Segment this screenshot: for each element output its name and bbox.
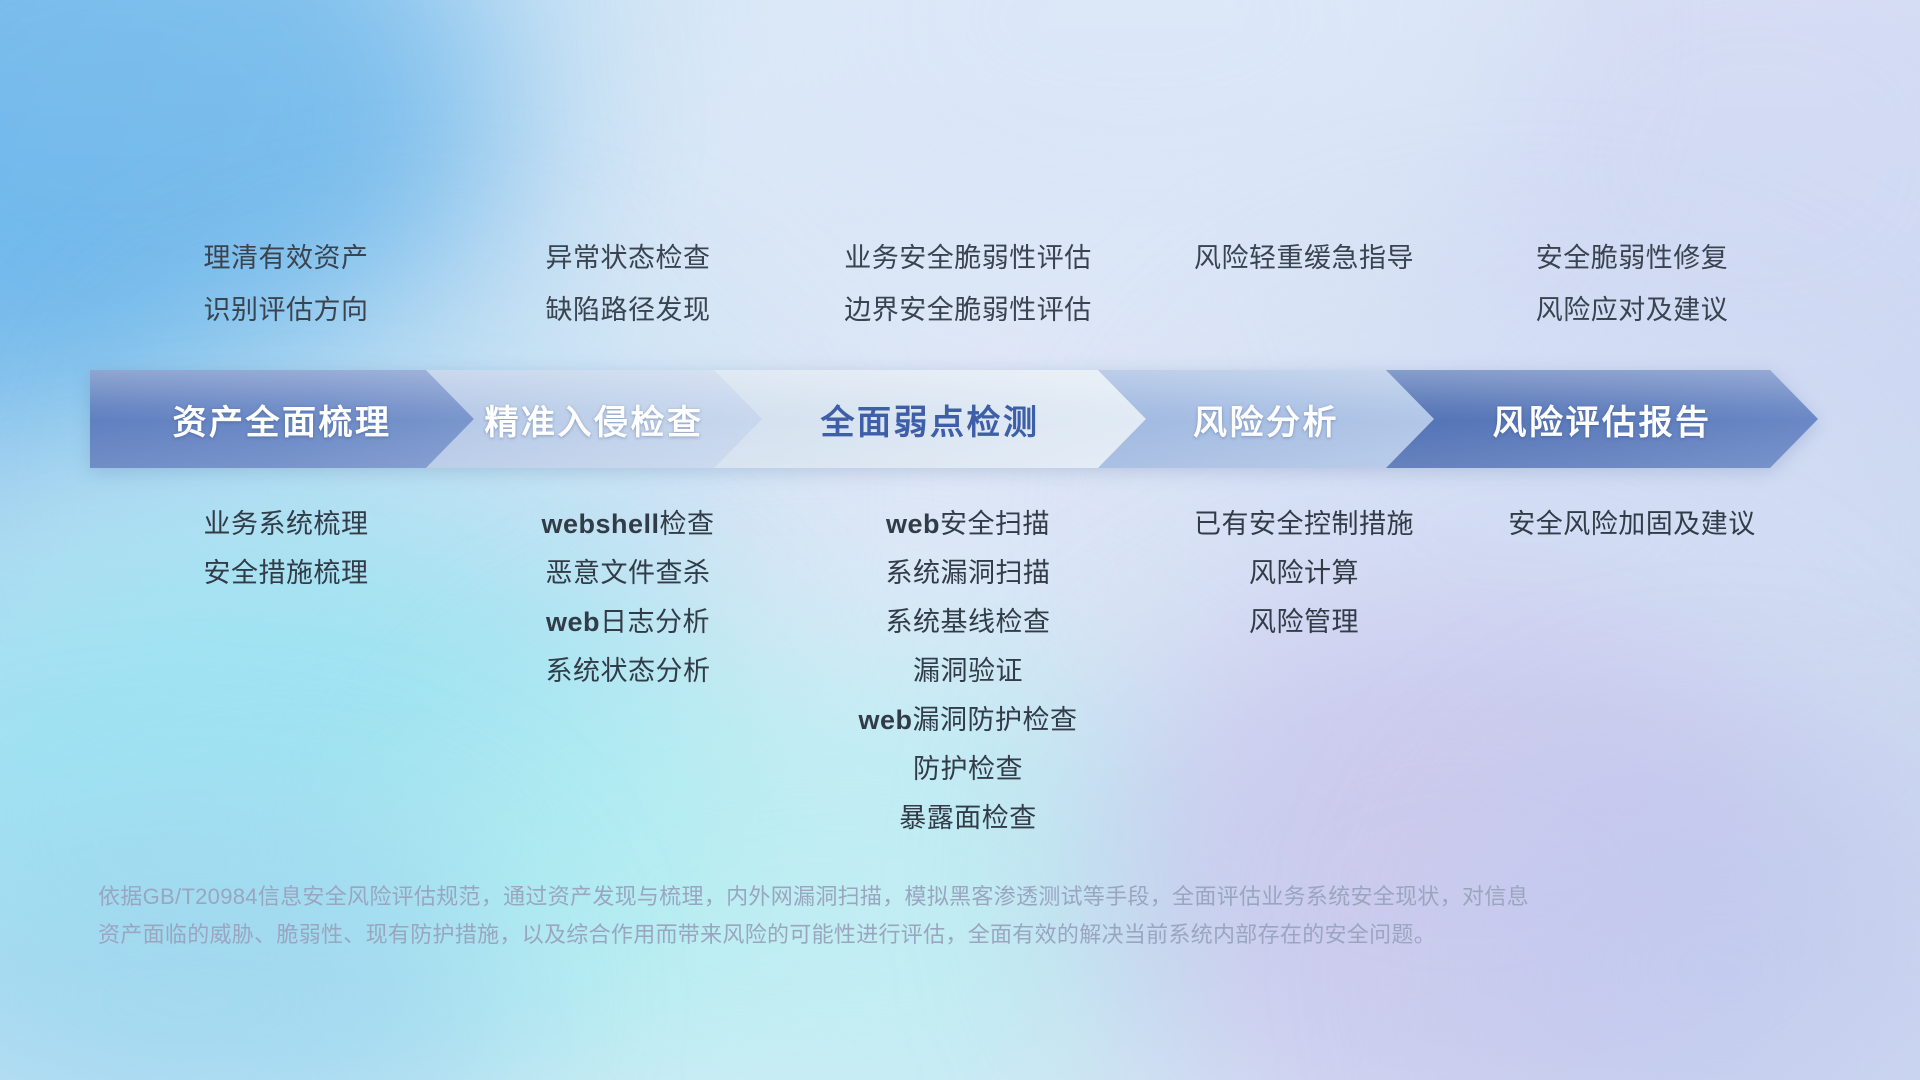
top-notes-stage-1: 理清有效资产 识别评估方向 (94, 232, 478, 336)
top-note: 业务安全脆弱性评估 (776, 232, 1160, 284)
bottom-note: 业务系统梳理 (94, 500, 478, 549)
bottom-notes-stage-5: 安全风险加固及建议 (1440, 500, 1824, 549)
stage-chevron-4[interactable]: 风险分析 (1098, 370, 1434, 468)
top-note: 风险应对及建议 (1440, 284, 1824, 336)
bottom-note: 系统基线检查 (776, 598, 1160, 647)
stage-chevron-1[interactable]: 资产全面梳理 (90, 370, 474, 468)
bottom-note-keyword: web (886, 509, 940, 539)
top-note: 理清有效资产 (94, 232, 478, 284)
bottom-note: 防护检查 (776, 745, 1160, 794)
top-note: 识别评估方向 (94, 284, 478, 336)
bottom-note: 系统漏洞扫描 (776, 549, 1160, 598)
stage-title: 全面弱点检测 (821, 395, 1040, 444)
stage-chevron-5[interactable]: 风险评估报告 (1386, 370, 1818, 468)
bottom-note: web漏洞防护检查 (776, 696, 1160, 745)
top-notes-stage-2: 异常状态检查 缺陷路径发现 (484, 232, 772, 336)
bottom-notes-row: 业务系统梳理安全措施梳理 webshell检查恶意文件查杀web日志分析系统状态… (0, 500, 1920, 843)
bottom-note-keyword: webshell (541, 509, 659, 539)
bottom-notes-stage-1: 业务系统梳理安全措施梳理 (94, 500, 478, 598)
top-note: 安全脆弱性修复 (1440, 232, 1824, 284)
top-note: 异常状态检查 (484, 232, 772, 284)
bottom-note: web安全扫描 (776, 500, 1160, 549)
top-note: 风险轻重缓急指导 (1160, 232, 1448, 284)
top-notes-stage-3: 业务安全脆弱性评估 边界安全脆弱性评估 (776, 232, 1160, 336)
bottom-notes-stage-4: 已有安全控制措施风险计算风险管理 (1160, 500, 1448, 647)
stage-chevron-band: 资产全面梳理 精准入侵检查 全面弱点检测 风险分析 风险评估报告 (90, 370, 1834, 468)
footer-line: 依据GB/T20984信息安全风险评估规范，通过资产发现与梳理，内外网漏洞扫描，… (98, 878, 1738, 916)
footer-line: 资产面临的威胁、脆弱性、现有防护措施，以及综合作用而带来风险的可能性进行评估，全… (98, 916, 1738, 954)
bottom-note: 恶意文件查杀 (484, 549, 772, 598)
footer-description: 依据GB/T20984信息安全风险评估规范，通过资产发现与梳理，内外网漏洞扫描，… (98, 878, 1738, 954)
bottom-note: 已有安全控制措施 (1160, 500, 1448, 549)
top-note: 缺陷路径发现 (484, 284, 772, 336)
stage-title: 精准入侵检查 (485, 395, 704, 444)
bottom-note: 漏洞验证 (776, 647, 1160, 696)
stage-chevron-3[interactable]: 全面弱点检测 (714, 370, 1146, 468)
bottom-note: 风险管理 (1160, 598, 1448, 647)
bottom-note: 风险计算 (1160, 549, 1448, 598)
stage-title: 资产全面梳理 (173, 395, 392, 444)
bottom-note: 安全风险加固及建议 (1440, 500, 1824, 549)
stage-title: 风险评估报告 (1493, 395, 1712, 444)
bottom-note-keyword: web (546, 607, 600, 637)
top-note: 边界安全脆弱性评估 (776, 284, 1160, 336)
bottom-note: web日志分析 (484, 598, 772, 647)
stage-title: 风险分析 (1193, 395, 1339, 444)
top-notes-stage-5: 安全脆弱性修复 风险应对及建议 (1440, 232, 1824, 336)
bottom-notes-stage-2: webshell检查恶意文件查杀web日志分析系统状态分析 (484, 500, 772, 696)
bottom-note: 暴露面检查 (776, 794, 1160, 843)
top-notes-stage-4: 风险轻重缓急指导 (1160, 232, 1448, 336)
bottom-note: 安全措施梳理 (94, 549, 478, 598)
bottom-note-keyword: web (858, 705, 912, 735)
bottom-note: 系统状态分析 (484, 647, 772, 696)
bottom-note: webshell检查 (484, 500, 772, 549)
process-diagram: 理清有效资产 识别评估方向 异常状态检查 缺陷路径发现 业务安全脆弱性评估 边界… (0, 0, 1920, 1080)
top-notes-row: 理清有效资产 识别评估方向 异常状态检查 缺陷路径发现 业务安全脆弱性评估 边界… (0, 232, 1920, 336)
stage-chevron-2[interactable]: 精准入侵检查 (426, 370, 762, 468)
bottom-notes-stage-3: web安全扫描系统漏洞扫描系统基线检查漏洞验证web漏洞防护检查防护检查暴露面检… (776, 500, 1160, 843)
